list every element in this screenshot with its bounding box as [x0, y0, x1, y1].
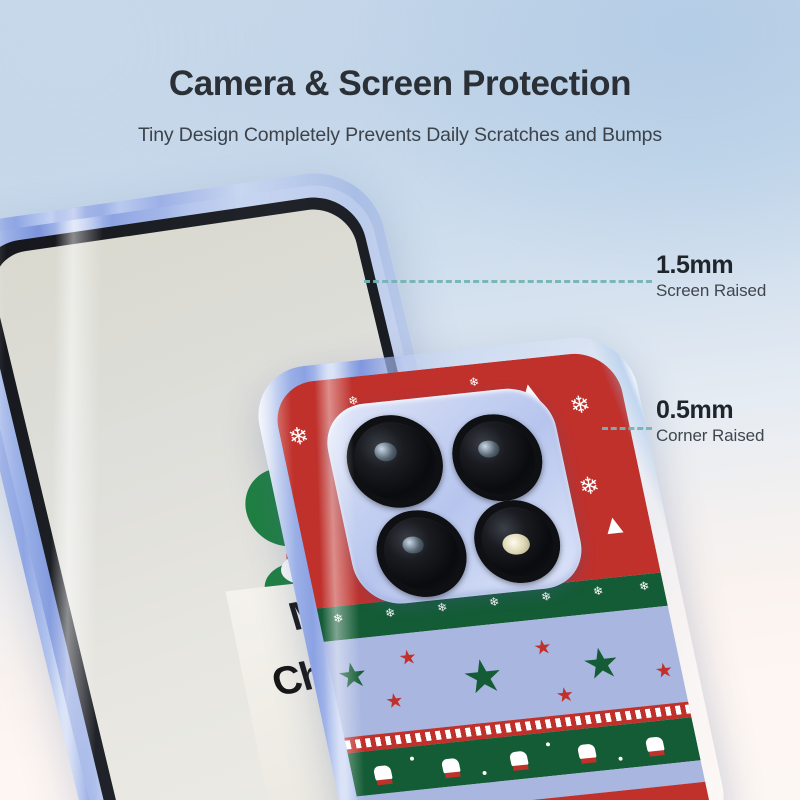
callout-caption: Corner Raised [656, 426, 764, 446]
leader-line-corner-raised [602, 427, 652, 430]
callout-screen-raised: 1.5mm Screen Raised [656, 252, 766, 301]
leader-line-screen-raised [364, 280, 652, 283]
camera-lens-1 [338, 411, 452, 513]
callout-value: 1.5mm [656, 252, 766, 278]
camera-lens-2 [444, 410, 550, 505]
page-subtitle: Tiny Design Completely Prevents Daily Sc… [0, 124, 800, 147]
callout-corner-raised: 0.5mm Corner Raised [656, 397, 764, 446]
callout-value: 0.5mm [656, 397, 764, 423]
callout-caption: Screen Raised [656, 281, 766, 301]
page-title: Camera & Screen Protection [0, 64, 800, 104]
camera-lens-3 [368, 506, 474, 601]
product-feature-banner: Camera & Screen Protection Tiny Design C… [0, 0, 800, 800]
camera-island [319, 384, 589, 608]
camera-lens-4-flash [466, 496, 567, 587]
